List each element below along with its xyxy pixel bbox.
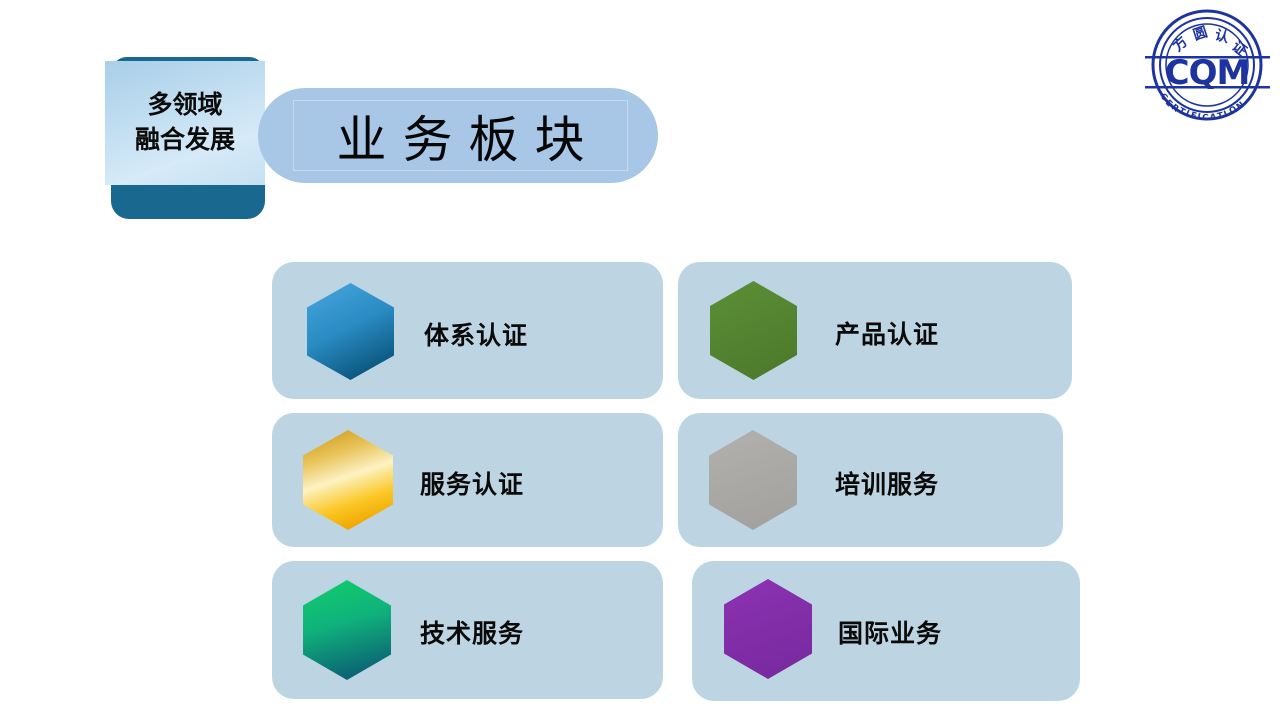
svg-text:认: 认 (1213, 26, 1232, 46)
card-system-certification[interactable]: 体系认证 (272, 262, 663, 399)
hexagon-icon-teal (301, 579, 393, 686)
card-label-training-service: 培训服务 (835, 465, 939, 501)
cqm-logo: 方 圆 认 证 CQM C E R T I F I C (1145, 4, 1270, 126)
hexagon-icon-gold (301, 429, 395, 536)
svg-text:方: 方 (1169, 33, 1191, 55)
card-service-certification[interactable]: 服务认证 (272, 413, 663, 547)
card-label-product-certification: 产品认证 (835, 315, 939, 351)
card-technical-service[interactable]: 技术服务 (272, 561, 663, 699)
slide-header: 多领域 融合发展 业务板块 方 圆 认 证 (0, 0, 1280, 240)
hexagon-icon-green (708, 280, 799, 386)
slide-canvas: 多领域 融合发展 业务板块 方 圆 认 证 (0, 0, 1280, 720)
section-tab-line-1: 多领域 (147, 93, 222, 118)
page-title-inner-frame: 业务板块 (293, 100, 628, 171)
page-title-banner: 业务板块 (258, 88, 658, 183)
card-training-service[interactable]: 培训服务 (678, 413, 1063, 547)
section-tab-line-2: 融合发展 (135, 128, 235, 153)
svg-text:CQM: CQM (1165, 53, 1250, 93)
hexagon-icon-blue (305, 282, 396, 386)
card-label-international-business: 国际业务 (838, 614, 942, 650)
section-tab[interactable]: 多领域 融合发展 (105, 61, 265, 185)
page-title: 业务板块 (321, 100, 601, 172)
hexagon-icon-purple (722, 578, 814, 685)
card-label-service-certification: 服务认证 (420, 465, 524, 501)
card-international-business[interactable]: 国际业务 (692, 561, 1080, 701)
svg-text:C: C (1202, 113, 1209, 123)
card-product-certification[interactable]: 产品认证 (678, 262, 1072, 399)
svg-text:圆: 圆 (1191, 24, 1209, 44)
card-label-system-certification: 体系认证 (424, 316, 528, 352)
card-label-technical-service: 技术服务 (420, 614, 524, 650)
business-segment-grid: 体系认证 产品认证 (0, 250, 1280, 710)
hexagon-icon-gray (707, 429, 799, 536)
